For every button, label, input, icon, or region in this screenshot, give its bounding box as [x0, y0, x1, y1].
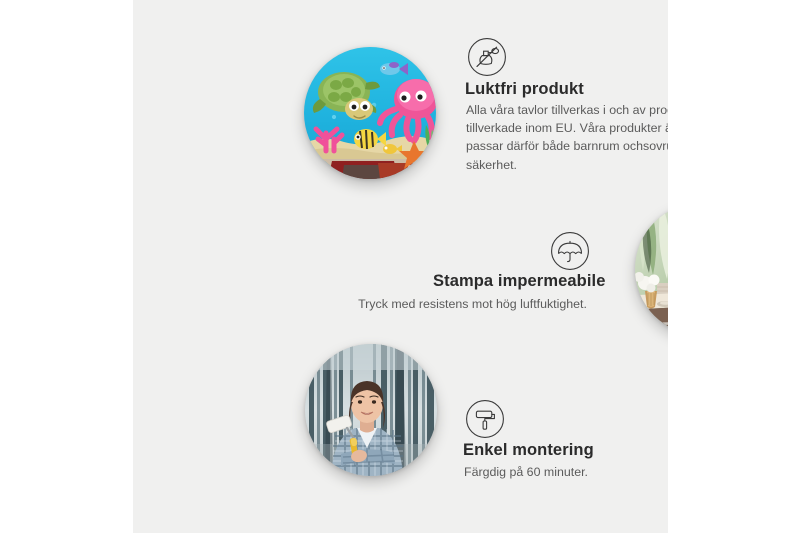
no-fragrance-spray-bottle-icon [467, 37, 507, 77]
image-underwater-cartoon-scene [304, 47, 436, 179]
feature-title: Luktfri produkt [465, 80, 584, 99]
feature-body: Alla våra tavlor tillverkas i och av pro… [466, 101, 668, 174]
content-panel: Luktfri produkt Alla våra tavlor tillver… [133, 0, 668, 533]
product-feature-graphic: Luktfri produkt Alla våra tavlor tillver… [0, 0, 800, 533]
feature-body: Tryck med resistens mot hög luftfuktighe… [353, 295, 592, 313]
forest-mural-photo [305, 344, 437, 476]
feature-body: Färgdig på 60 minuter. [464, 463, 668, 481]
feature-title: Enkel montering [463, 441, 594, 460]
feature-title: Stampa impermeabile [433, 272, 605, 291]
image-woman-with-paint-roller [305, 344, 437, 476]
bathroom-photo [635, 203, 668, 335]
paint-roller-icon [465, 399, 505, 439]
image-bathroom-tropical-wallpaper [635, 203, 668, 335]
umbrella-icon [550, 231, 590, 271]
underwater-illustration [304, 47, 436, 179]
